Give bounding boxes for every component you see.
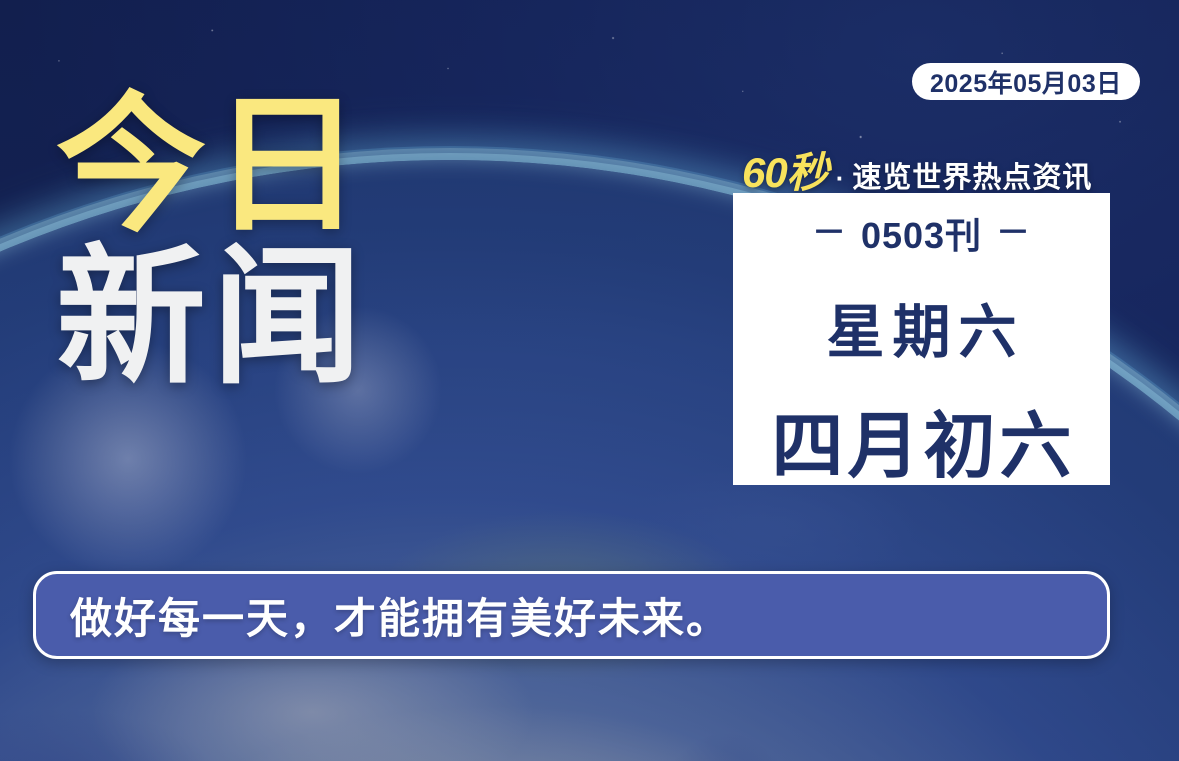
title-line-today: 今日 [56, 96, 368, 234]
tagline: 60秒 · 速览世界热点资讯 [742, 139, 1092, 200]
weekday-label: 星期六 [818, 285, 1024, 369]
tagline-separator-dot: · [834, 163, 847, 194]
dash-right-decoration: － [996, 216, 1031, 250]
tagline-seconds: 60秒 [742, 139, 828, 200]
issue-row: － 0503刊 － [812, 207, 1031, 259]
date-badge: 2025年05月03日 [912, 63, 1140, 100]
tagline-description: 速览世界热点资讯 [852, 154, 1092, 196]
quote-banner-text: 做好每一天，才能拥有美好未来。 [70, 585, 730, 646]
issue-number: 0503刊 [861, 207, 982, 259]
quote-banner: 做好每一天，才能拥有美好未来。 [33, 571, 1110, 659]
dash-left-decoration: － [812, 216, 847, 250]
page-title: 今日 新闻 [56, 96, 368, 386]
lunar-date-label: 四月初六 [767, 387, 1075, 492]
news-poster: 2025年05月03日 今日 新闻 60秒 · 速览世界热点资讯 － 0503刊… [0, 0, 1179, 761]
issue-info-card: － 0503刊 － 星期六 四月初六 [733, 193, 1110, 485]
title-line-news: 新闻 [56, 248, 368, 386]
